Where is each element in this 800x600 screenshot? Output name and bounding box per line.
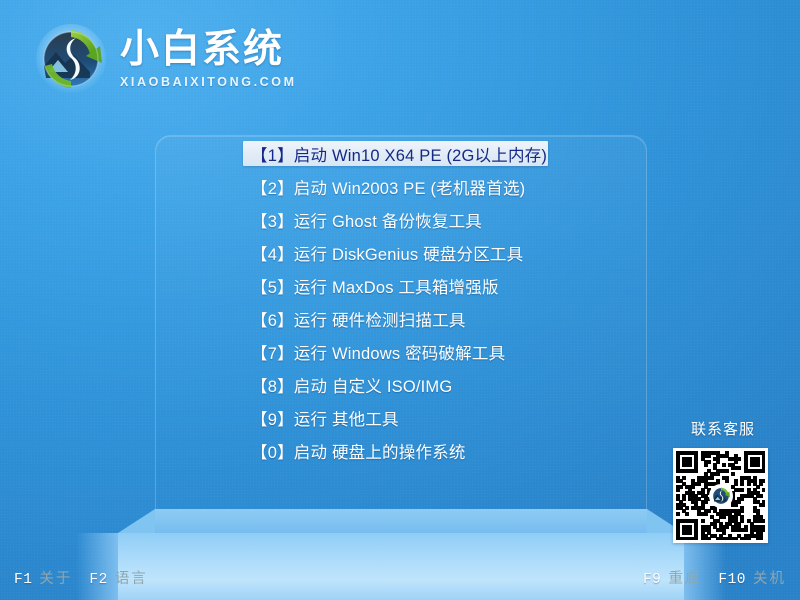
function-key-label: 语言 [115,567,148,588]
function-key-f1[interactable]: F1关于 [14,567,72,588]
support-title: 联系客服 [673,418,773,439]
menu-item-8[interactable]: 【8】启动 自定义 ISO/IMG [243,372,548,397]
footer-left-keys: F1关于F2语言 [14,567,148,588]
brand-name-en: XIAOBAIXITONG.COM [120,76,297,89]
menu-item-9[interactable]: 【9】运行 其他工具 [243,405,548,430]
footer-right-keys: F9重启F10关机 [643,567,786,588]
function-key-cap: F10 [718,572,746,588]
menu-item-3[interactable]: 【3】运行 Ghost 备份恢复工具 [243,207,548,232]
pedestal-top-surface [155,509,647,533]
function-key-f2[interactable]: F2语言 [89,567,147,588]
boot-menu-list: 【1】启动 Win10 X64 PE (2G以上内存)【2】启动 Win2003… [243,141,548,471]
function-key-bar: F1关于F2语言 F9重启F10关机 [0,554,800,600]
menu-item-1[interactable]: 【1】启动 Win10 X64 PE (2G以上内存) [243,141,548,166]
function-key-cap: F2 [89,572,107,588]
function-key-cap: F1 [14,572,32,588]
menu-item-7[interactable]: 【7】运行 Windows 密码破解工具 [243,339,548,364]
menu-item-6[interactable]: 【6】运行 硬件检测扫描工具 [243,306,548,331]
function-key-label: 重启 [668,567,701,588]
brand-logo: 小白系统 XIAOBAIXITONG.COM [34,22,297,96]
qr-center-logo-icon [709,484,733,508]
menu-item-0[interactable]: 【0】启动 硬盘上的操作系统 [243,438,548,463]
menu-item-4[interactable]: 【4】运行 DiskGenius 硬盘分区工具 [243,240,548,265]
brand-name-cn: 小白系统 [120,30,297,69]
function-key-f10[interactable]: F10关机 [718,567,786,588]
boot-menu-screen: 小白系统 XIAOBAIXITONG.COM 【1】启动 Win10 X64 P… [0,0,800,600]
function-key-label: 关于 [39,567,72,588]
menu-item-5[interactable]: 【5】运行 MaxDos 工具箱增强版 [243,273,548,298]
menu-item-2[interactable]: 【2】启动 Win2003 PE (老机器首选) [243,174,548,199]
function-key-label: 关机 [753,567,786,588]
customer-support-block: 联系客服 [673,418,773,543]
function-key-cap: F9 [643,572,661,588]
recycle-globe-logo-icon [34,22,108,96]
function-key-f9[interactable]: F9重启 [643,567,701,588]
qr-code-icon[interactable] [673,448,768,543]
